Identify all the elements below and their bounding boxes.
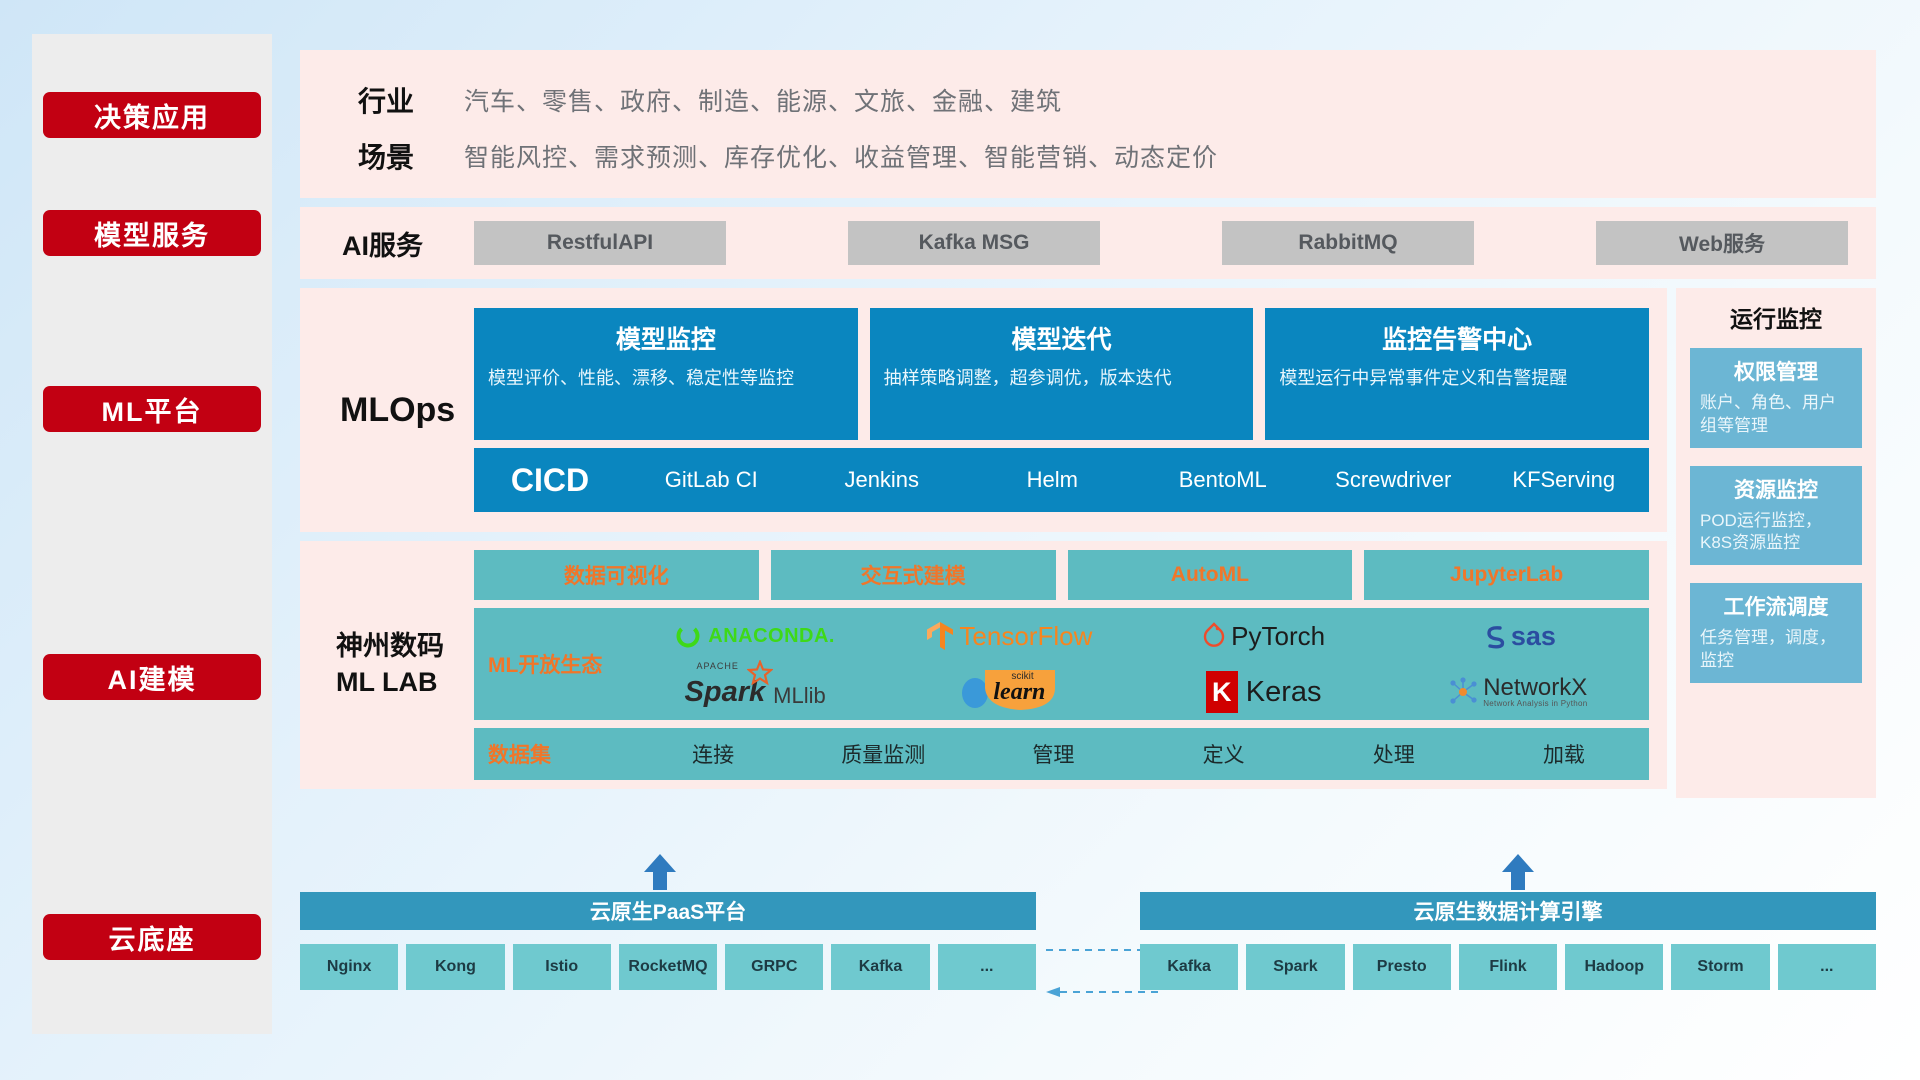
card-desc: 模型运行中异常事件定义和告警提醒 [1279,366,1635,390]
compute-chip-kafka[interactable]: Kafka [1140,944,1238,990]
ml-ecosystem-label: ML开放生态 [488,649,628,679]
rail-badge-ai-modeling[interactable]: AI建模 [43,654,261,700]
platform-tier-wrap: MLOps 模型监控 模型评价、性能、漂移、稳定性等监控 模型迭代 抽样策略调整… [300,288,1876,798]
mlops-card-alert-center[interactable]: 监控告警中心 模型运行中异常事件定义和告警提醒 [1265,308,1649,440]
tool-chip-interactive-modeling[interactable]: 交互式建模 [771,550,1056,600]
anaconda-wordmark: ANACONDA. [708,625,835,648]
monitor-card-resource[interactable]: 资源监控 POD运行监控，K8S资源监控 [1690,466,1862,566]
dataset-item-connect[interactable]: 连接 [628,739,798,769]
scenario-label: 场景 [318,136,464,176]
card-title: 模型迭代 [884,320,1240,356]
cicd-item-gitlab-ci[interactable]: GitLab CI [626,468,797,492]
cicd-item-jenkins[interactable]: Jenkins [797,468,968,492]
mlops-band: MLOps 模型监控 模型评价、性能、漂移、稳定性等监控 模型迭代 抽样策略调整… [300,288,1667,532]
sas-swirl-icon [1480,622,1508,650]
cicd-item-helm[interactable]: Helm [967,468,1138,492]
ml-lab-label: 神州数码 ML LAB [318,629,474,700]
keras-logo: K Keras [1206,671,1322,713]
tool-chip-jupyterlab[interactable]: JupyterLab [1364,550,1649,600]
cicd-item-screwdriver[interactable]: Screwdriver [1308,468,1479,492]
card-desc: 账户、角色、用户组等管理 [1700,392,1852,438]
keras-mark-letter: K [1212,677,1232,708]
cloud-column-gap [1036,892,1140,1044]
paas-chip-more[interactable]: ... [938,944,1036,990]
industry-row: 行业 汽车、零售、政府、制造、能源、文旅、金融、建筑 [318,72,1858,128]
cicd-item-bentoml[interactable]: BentoML [1138,468,1309,492]
service-chip-restfulapi[interactable]: RestfulAPI [474,221,726,265]
anaconda-logo: ANACONDA. [675,623,835,649]
industry-label: 行业 [318,80,464,120]
service-chip-rabbitmq[interactable]: RabbitMQ [1222,221,1474,265]
sas-logo: sas [1480,621,1556,652]
tensorflow-mark-icon [926,621,954,651]
service-chip-web-service[interactable]: Web服务 [1596,221,1848,265]
scikit-learn-wordmark: learn [993,679,1045,706]
card-title: 权限管理 [1700,356,1852,386]
compute-chip-spark[interactable]: Spark [1246,944,1344,990]
cicd-label: CICD [474,462,626,499]
diagram-canvas: 决策应用 模型服务 ML平台 AI建模 云底座 行业 汽车、零售、政府、制造、能… [0,0,1920,1080]
scikit-learn-logo: scikit learn [959,668,1059,717]
dataset-item-process[interactable]: 处理 [1309,739,1479,769]
ai-service-label: AI服务 [318,224,464,263]
card-title: 模型监控 [488,320,844,356]
paas-chip-rocketmq[interactable]: RocketMQ [619,944,717,990]
card-title: 工作流调度 [1700,591,1852,621]
spark-mllib-logo: APACHE Spark MLlib [685,676,826,709]
tensorflow-logo: TensorFlow [926,621,1092,652]
paas-chip-istio[interactable]: Istio [513,944,611,990]
scenario-list: 智能风控、需求预测、库存优化、收益管理、智能营销、动态定价 [464,138,1218,174]
ai-modeling-band: 神州数码 ML LAB 数据可视化 交互式建模 AutoML JupyterLa… [300,541,1667,789]
cicd-item-kfserving[interactable]: KFServing [1479,468,1650,492]
modeling-tool-row: 数据可视化 交互式建模 AutoML JupyterLab [474,550,1649,600]
industry-list: 汽车、零售、政府、制造、能源、文旅、金融、建筑 [464,82,1062,118]
mlops-card-model-monitoring[interactable]: 模型监控 模型评价、性能、漂移、稳定性等监控 [474,308,858,440]
mlops-label: MLOps [318,391,474,430]
pytorch-wordmark: PyTorch [1231,621,1325,652]
cicd-bar: CICD GitLab CI Jenkins Helm BentoML Scre… [474,448,1649,512]
compute-engine-up-arrow [1498,852,1538,892]
ml-lab-label-line1: 神州数码 [336,629,474,665]
rail-badge-ml-platform[interactable]: ML平台 [43,386,261,432]
monitor-card-permission[interactable]: 权限管理 账户、角色、用户组等管理 [1690,348,1862,448]
card-desc: POD运行监控，K8S资源监控 [1700,510,1852,556]
ml-ecosystem-box: ML开放生态 ANACONDA. [474,608,1649,720]
ai-service-band: AI服务 RestfulAPI Kafka MSG RabbitMQ Web服务 [300,207,1876,279]
card-title: 资源监控 [1700,474,1852,504]
rail-badge-model-service[interactable]: 模型服务 [43,210,261,256]
paas-chip-grpc[interactable]: GRPC [725,944,823,990]
ml-ecosystem-logo-grid: ANACONDA. TensorFlow [628,608,1645,720]
paas-up-arrow [640,852,680,892]
compute-chip-flink[interactable]: Flink [1459,944,1557,990]
ml-lab-label-line2: ML LAB [336,665,474,701]
dataset-item-quality-monitor[interactable]: 质量监测 [798,739,968,769]
networkx-logo: NetworkX Network Analysis in Python [1448,676,1587,708]
paas-column: 云原生PaaS平台 Nginx Kong Istio RocketMQ GRPC… [300,892,1036,1044]
paas-bar[interactable]: 云原生PaaS平台 [300,892,1036,930]
keras-mark-icon: K [1206,671,1238,713]
paas-chip-track: Nginx Kong Istio RocketMQ GRPC Kafka ... [300,944,1036,990]
service-chip-kafka-msg[interactable]: Kafka MSG [848,221,1100,265]
tensorflow-wordmark: TensorFlow [959,621,1092,652]
dataset-item-define[interactable]: 定义 [1139,739,1309,769]
pytorch-logo: PyTorch [1202,621,1325,652]
left-tier-rail: 决策应用 模型服务 ML平台 AI建模 云底座 [32,34,272,1034]
anaconda-ring-icon [675,623,701,649]
networkx-graph-icon [1448,677,1478,707]
card-title: 监控告警中心 [1279,320,1635,356]
mlops-card-model-iteration[interactable]: 模型迭代 抽样策略调整，超参调优，版本迭代 [870,308,1254,440]
rail-badge-label: 模型服务 [94,214,210,253]
architecture-stack: 行业 汽车、零售、政府、制造、能源、文旅、金融、建筑 场景 智能风控、需求预测、… [300,50,1876,798]
ai-modeling-content: 数据可视化 交互式建模 AutoML JupyterLab ML开放生态 [474,550,1649,780]
decision-apps-band: 行业 汽车、零售、政府、制造、能源、文旅、金融、建筑 场景 智能风控、需求预测、… [300,50,1876,198]
rail-badge-label: 决策应用 [94,96,210,135]
compute-chip-storm[interactable]: Storm [1671,944,1769,990]
paas-chip-kafka[interactable]: Kafka [831,944,929,990]
rail-badge-cloud-base[interactable]: 云底座 [43,914,261,960]
rail-badge-decision-apps[interactable]: 决策应用 [43,92,261,138]
compute-engine-bar[interactable]: 云原生数据计算引擎 [1140,892,1876,930]
spark-star-icon [747,660,773,686]
dataset-label: 数据集 [488,739,628,769]
sas-wordmark: sas [1511,621,1556,652]
dataset-item-track: 连接 质量监测 管理 定义 处理 加载 [628,739,1649,769]
tool-chip-automl[interactable]: AutoML [1068,550,1353,600]
card-desc: 抽样策略调整，超参调优，版本迭代 [884,366,1240,390]
compute-chip-presto[interactable]: Presto [1353,944,1451,990]
paas-chip-nginx[interactable]: Nginx [300,944,398,990]
networkx-wordmark: NetworkX [1483,676,1587,700]
compute-chip-hadoop[interactable]: Hadoop [1565,944,1663,990]
runtime-monitor-panel: 运行监控 权限管理 账户、角色、用户组等管理 资源监控 POD运行监控，K8S资… [1676,288,1876,798]
cloud-columns: 云原生PaaS平台 Nginx Kong Istio RocketMQ GRPC… [300,892,1876,1044]
cicd-item-track: GitLab CI Jenkins Helm BentoML Screwdriv… [626,468,1649,492]
dataset-item-load[interactable]: 加载 [1479,739,1649,769]
monitor-card-workflow[interactable]: 工作流调度 任务管理，调度，监控 [1690,583,1862,683]
rail-badge-label: AI建模 [108,658,197,697]
keras-wordmark: Keras [1246,676,1322,709]
compute-engine-column: 云原生数据计算引擎 Kafka Spark Presto Flink Hadoo… [1140,892,1876,1044]
rail-badge-label: 云底座 [109,918,196,957]
networkx-subtext: Network Analysis in Python [1483,700,1587,708]
mlops-content: 模型监控 模型评价、性能、漂移、稳定性等监控 模型迭代 抽样策略调整，超参调优，… [474,308,1649,512]
compute-chip-more[interactable]: ... [1778,944,1876,990]
tool-chip-data-visualization[interactable]: 数据可视化 [474,550,759,600]
paas-chip-kong[interactable]: Kong [406,944,504,990]
scenario-row: 场景 智能风控、需求预测、库存优化、收益管理、智能营销、动态定价 [318,128,1858,184]
platform-tier-left: MLOps 模型监控 模型评价、性能、漂移、稳定性等监控 模型迭代 抽样策略调整… [300,288,1667,798]
cloud-foundation: 云原生PaaS平台 Nginx Kong Istio RocketMQ GRPC… [300,892,1876,1044]
dataset-row: 数据集 连接 质量监测 管理 定义 处理 加载 [474,728,1649,780]
compute-engine-chip-track: Kafka Spark Presto Flink Hadoop Storm ..… [1140,944,1876,990]
dataset-item-manage[interactable]: 管理 [968,739,1138,769]
card-desc: 模型评价、性能、漂移、稳定性等监控 [488,366,844,390]
spark-apache-subtext: APACHE [697,661,739,671]
mlops-card-row: 模型监控 模型评价、性能、漂移、稳定性等监控 模型迭代 抽样策略调整，超参调优，… [474,308,1649,440]
rail-badge-label: ML平台 [102,390,203,429]
ai-service-chip-track: RestfulAPI Kafka MSG RabbitMQ Web服务 [464,221,1858,265]
mllib-wordmark: MLlib [773,683,826,709]
card-desc: 任务管理，调度，监控 [1700,627,1852,673]
runtime-monitor-title: 运行监控 [1690,300,1862,334]
pytorch-flame-icon [1202,622,1226,650]
